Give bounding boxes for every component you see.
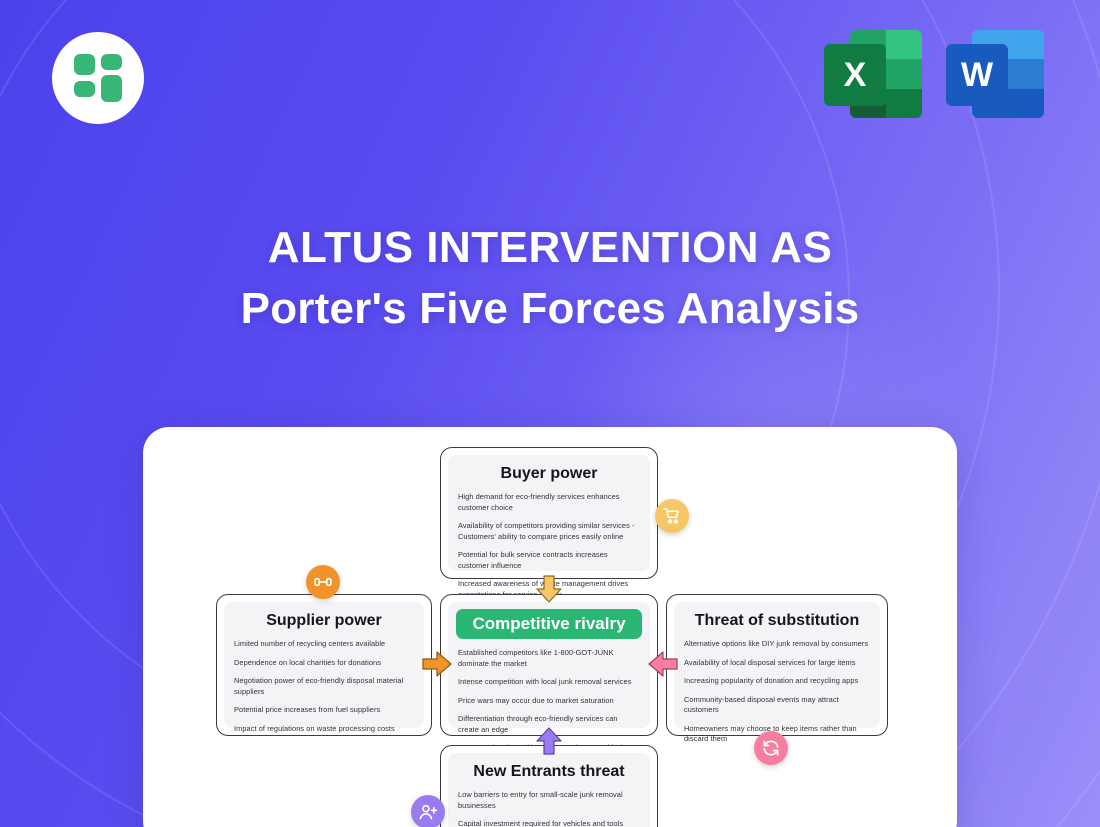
force-item: Established competitors like 1-800-GOT-J…	[458, 648, 640, 669]
force-title-buyer-power: Buyer power	[458, 464, 640, 483]
force-list-supplier-power: Limited number of recycling centers avai…	[234, 639, 414, 734]
cart-icon	[662, 506, 682, 526]
arrow-substitution-to-rivalry	[648, 650, 678, 678]
force-title-new-entrants-threat: New Entrants threat	[458, 762, 640, 781]
diagram-card: Buyer power High demand for eco-friendly…	[143, 427, 957, 827]
sync-icon	[761, 738, 781, 758]
force-item: Community-based disposal events may attr…	[684, 695, 870, 716]
badge-entrants-adduser-icon[interactable]	[411, 795, 445, 827]
badge-supplier-link-icon[interactable]	[306, 565, 340, 599]
force-box-new-entrants-threat[interactable]: New Entrants threat Low barriers to entr…	[440, 745, 658, 827]
word-icon-letter: W	[946, 44, 1008, 106]
force-item: Impact of regulations on waste processin…	[234, 724, 414, 735]
force-item: Price wars may occur due to market satur…	[458, 696, 640, 707]
add-user-icon	[418, 802, 438, 822]
force-item: Low barriers to entry for small-scale ju…	[458, 790, 640, 811]
force-item: High demand for eco-friendly services en…	[458, 492, 640, 513]
arrow-entrants-to-rivalry	[535, 727, 563, 755]
title-subject: Porter's Five Forces Analysis	[0, 280, 1100, 337]
force-item: Limited number of recycling centers avai…	[234, 639, 414, 650]
force-title-supplier-power: Supplier power	[234, 611, 414, 630]
arrow-buyer-to-rivalry	[535, 575, 563, 603]
force-box-buyer-power[interactable]: Buyer power High demand for eco-friendly…	[440, 447, 658, 579]
force-item: Availability of local disposal services …	[684, 658, 870, 669]
force-title-competitive-rivalry: Competitive rivalry	[456, 609, 642, 639]
poster-canvas: X W ALTUS INTERVENTION AS Porter's Five …	[0, 0, 1100, 827]
title-company: ALTUS INTERVENTION AS	[0, 222, 1100, 274]
force-item: Potential price increases from fuel supp…	[234, 705, 414, 716]
force-item: Increasing popularity of donation and re…	[684, 676, 870, 687]
export-format-icons: X W	[824, 26, 1044, 122]
force-item: Dependence on local charities for donati…	[234, 658, 414, 669]
link-icon	[313, 572, 333, 592]
badge-substitution-sync-icon[interactable]	[754, 731, 788, 765]
badge-buyer-cart-icon[interactable]	[655, 499, 689, 533]
force-box-supplier-power[interactable]: Supplier power Limited number of recycli…	[216, 594, 432, 736]
force-item: Negotiation power of eco-friendly dispos…	[234, 676, 414, 697]
excel-icon-letter: X	[824, 44, 886, 106]
page-title: ALTUS INTERVENTION AS Porter's Five Forc…	[0, 222, 1100, 337]
force-list-threat-of-substitution: Alternative options like DIY junk remova…	[684, 639, 870, 745]
force-item: Capital investment required for vehicles…	[458, 819, 640, 827]
grid-squares-logo-icon	[74, 54, 122, 102]
force-box-threat-of-substitution[interactable]: Threat of substitution Alternative optio…	[666, 594, 888, 736]
force-box-competitive-rivalry[interactable]: Competitive rivalry Established competit…	[440, 594, 658, 736]
excel-icon[interactable]: X	[824, 26, 922, 122]
force-item: Alternative options like DIY junk remova…	[684, 639, 870, 650]
brand-logo	[52, 32, 144, 124]
force-item: Potential for bulk service contracts inc…	[458, 550, 640, 571]
force-item: Intense competition with local junk remo…	[458, 677, 640, 688]
force-title-threat-of-substitution: Threat of substitution	[684, 611, 870, 630]
force-list-new-entrants-threat: Low barriers to entry for small-scale ju…	[458, 790, 640, 827]
arrow-supplier-to-rivalry	[422, 650, 452, 678]
force-item: Availability of competitors providing si…	[458, 521, 640, 542]
word-icon[interactable]: W	[946, 26, 1044, 122]
